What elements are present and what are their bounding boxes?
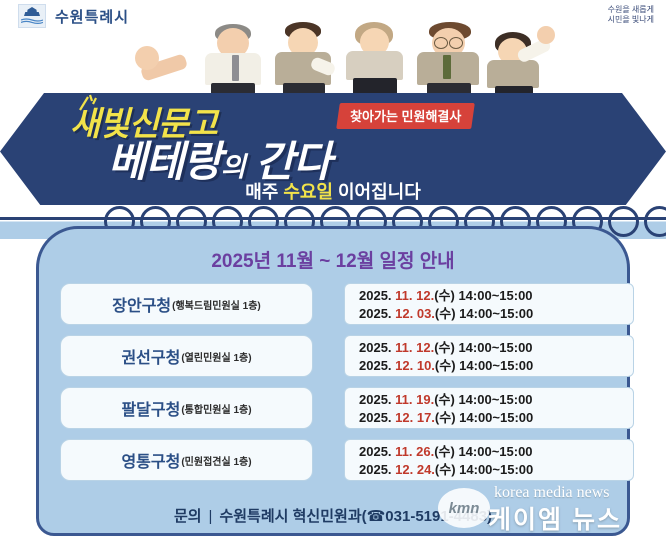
table-row: 권선구청(열린민원실 1층)2025. 11. 12.(수) 14:00~15:… bbox=[60, 335, 630, 379]
date-month: 12. bbox=[392, 358, 414, 373]
date-time: 14:00~15:00 bbox=[455, 340, 533, 355]
city-slogan: 수원을 새롭게 시민을 빛나게 bbox=[608, 5, 654, 25]
person-3 bbox=[337, 20, 413, 100]
date-block: 2025. 11. 12.(수) 14:00~15:002025. 12. 03… bbox=[344, 283, 634, 325]
glasses-icon bbox=[449, 37, 463, 49]
date-month: 12. bbox=[392, 410, 414, 425]
office-department: (통합민원실 1층) bbox=[181, 401, 251, 416]
schedule-rows: 장안구청(행복드림민원실 1층)2025. 11. 12.(수) 14:00~1… bbox=[60, 283, 630, 491]
date-weekday: (수) bbox=[435, 410, 456, 425]
banner-red-badge: 찾아가는 민원해결사 bbox=[336, 103, 475, 129]
office-name: 권선구청 bbox=[121, 344, 180, 368]
date-time: 14:00~15:00 bbox=[455, 392, 533, 407]
office-name: 영통구청 bbox=[121, 448, 180, 472]
date-day: 03. bbox=[413, 306, 435, 321]
date-day: 17. bbox=[413, 410, 435, 425]
office-department: (민원접견실 1층) bbox=[181, 453, 251, 468]
office-name: 장안구청 bbox=[112, 292, 171, 316]
ring-hole bbox=[608, 206, 639, 237]
date-weekday: (수) bbox=[435, 358, 456, 373]
glasses-icon bbox=[434, 37, 448, 49]
date-month: 11. bbox=[392, 392, 413, 407]
person-fist-left bbox=[135, 30, 195, 100]
date-line: 2025. 12. 03.(수) 14:00~15:00 bbox=[359, 305, 633, 323]
date-time: 14:00~15:00 bbox=[456, 358, 534, 373]
date-time: 14:00~15:00 bbox=[456, 306, 534, 321]
footer-separator: | bbox=[209, 508, 213, 525]
date-year: 2025. bbox=[359, 358, 392, 373]
date-day: 10. bbox=[413, 358, 435, 373]
date-time: 14:00~15:00 bbox=[455, 288, 533, 303]
date-day: 24. bbox=[413, 462, 435, 477]
date-line: 2025. 11. 12.(수) 14:00~15:00 bbox=[359, 287, 633, 305]
officials-illustration bbox=[135, 20, 535, 100]
person-5 bbox=[483, 20, 553, 100]
subline-suffix: 이어집니다 bbox=[333, 182, 421, 202]
date-month: 11. bbox=[392, 288, 413, 303]
table-row: 팔달구청(통합민원실 1층)2025. 11. 19.(수) 14:00~15:… bbox=[60, 387, 630, 431]
date-day: 12. bbox=[413, 340, 435, 355]
table-row: 영통구청(민원접견실 1층)2025. 11. 26.(수) 14:00~15:… bbox=[60, 439, 630, 483]
date-time: 14:00~15:00 bbox=[456, 462, 534, 477]
suwon-fortress-icon bbox=[18, 4, 46, 28]
date-month: 12. bbox=[392, 462, 414, 477]
date-month: 11. bbox=[392, 444, 413, 459]
subline-prefix: 매주 bbox=[245, 182, 283, 202]
poster-header: 수원특례시 수원을 새롭게 시민을 빛나게 bbox=[0, 0, 666, 100]
date-weekday: (수) bbox=[434, 444, 455, 459]
date-line: 2025. 11. 12.(수) 14:00~15:00 bbox=[359, 339, 633, 357]
schedule-title: 2025년 11월 ~ 12월 일정 안내 bbox=[0, 246, 666, 273]
subline-highlight: 수요일 bbox=[283, 182, 333, 202]
city-logo-label: 수원특례시 bbox=[55, 6, 129, 27]
date-line: 2025. 12. 24.(수) 14:00~15:00 bbox=[359, 461, 633, 479]
date-line: 2025. 11. 19.(수) 14:00~15:00 bbox=[359, 391, 633, 409]
wave-icon bbox=[21, 18, 43, 24]
date-weekday: (수) bbox=[434, 288, 455, 303]
office-pill[interactable]: 영통구청(민원접견실 1층) bbox=[60, 439, 313, 481]
date-year: 2025. bbox=[359, 288, 392, 303]
office-department: (행복드림민원실 1층) bbox=[172, 297, 261, 312]
watermark-badge: kmn bbox=[438, 488, 490, 528]
date-year: 2025. bbox=[359, 444, 392, 459]
office-pill[interactable]: 팔달구청(통합민원실 1층) bbox=[60, 387, 313, 429]
date-year: 2025. bbox=[359, 306, 392, 321]
date-weekday: (수) bbox=[435, 462, 456, 477]
date-year: 2025. bbox=[359, 462, 392, 477]
person-1 bbox=[195, 20, 273, 100]
office-department: (열린민원실 1층) bbox=[181, 349, 251, 364]
date-time: 14:00~15:00 bbox=[456, 410, 534, 425]
date-time: 14:00~15:00 bbox=[455, 444, 533, 459]
date-weekday: (수) bbox=[434, 340, 455, 355]
person-4 bbox=[409, 20, 491, 100]
date-day: 26. bbox=[413, 444, 435, 459]
red-badge-label: 찾아가는 민원해결사 bbox=[350, 106, 461, 125]
date-year: 2025. bbox=[359, 392, 392, 407]
date-weekday: (수) bbox=[435, 306, 456, 321]
office-name: 팔달구청 bbox=[121, 396, 180, 420]
watermark-korean: 케이엠 뉴스 bbox=[488, 500, 622, 536]
date-block: 2025. 11. 12.(수) 14:00~15:002025. 12. 10… bbox=[344, 335, 634, 377]
person-2 bbox=[267, 20, 341, 100]
date-day: 12. bbox=[413, 288, 435, 303]
watermark: kmn korea media news 케이엠 뉴스 bbox=[432, 480, 666, 540]
date-month: 11. bbox=[392, 340, 413, 355]
date-weekday: (수) bbox=[434, 392, 455, 407]
city-logo: 수원특례시 bbox=[18, 4, 129, 28]
date-line: 2025. 12. 10.(수) 14:00~15:00 bbox=[359, 357, 633, 375]
date-line: 2025. 11. 26.(수) 14:00~15:00 bbox=[359, 443, 633, 461]
footer-label: 문의 bbox=[174, 508, 202, 525]
date-block: 2025. 11. 19.(수) 14:00~15:002025. 12. 17… bbox=[344, 387, 634, 429]
date-block: 2025. 11. 26.(수) 14:00~15:002025. 12. 24… bbox=[344, 439, 634, 481]
banner-subline: 매주 수요일 이어집니다 bbox=[0, 178, 666, 204]
poster-root: 수원특례시 수원을 새롭게 시민을 빛나게 bbox=[0, 0, 666, 550]
date-month: 12. bbox=[392, 306, 414, 321]
date-year: 2025. bbox=[359, 410, 392, 425]
table-row: 장안구청(행복드림민원실 1층)2025. 11. 12.(수) 14:00~1… bbox=[60, 283, 630, 327]
date-line: 2025. 12. 17.(수) 14:00~15:00 bbox=[359, 409, 633, 427]
office-pill[interactable]: 권선구청(열린민원실 1층) bbox=[60, 335, 313, 377]
date-day: 19. bbox=[413, 392, 435, 407]
slogan-line-2: 시민을 빛나게 bbox=[608, 15, 654, 25]
date-year: 2025. bbox=[359, 340, 392, 355]
office-pill[interactable]: 장안구청(행복드림민원실 1층) bbox=[60, 283, 313, 325]
slogan-line-1: 수원을 새롭게 bbox=[608, 5, 654, 15]
